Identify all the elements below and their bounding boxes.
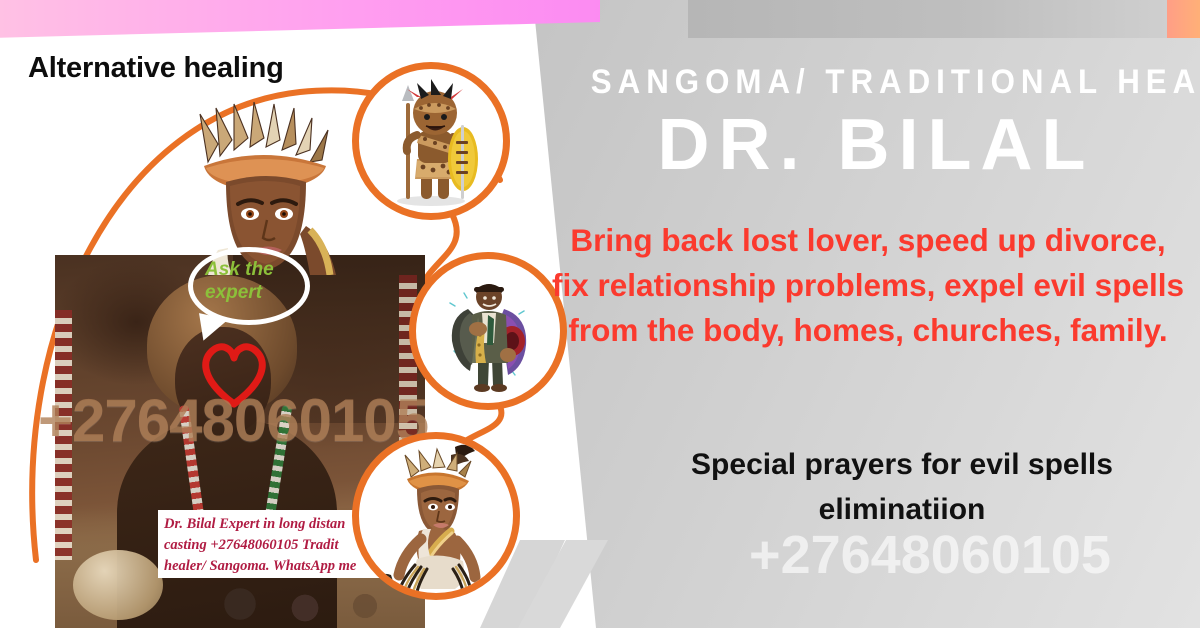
top-gray-bar — [688, 0, 1168, 38]
circle-kneeling-healer — [352, 432, 520, 600]
services-description: Bring back lost lover, speed up divorce,… — [548, 218, 1188, 353]
circle-robed-healer — [409, 252, 567, 410]
phone-number-watermark: +27648060105 — [660, 524, 1200, 586]
kicker-headline: SANGOMA/ TRADITIONAL HEALER — [591, 63, 1161, 102]
poster-canvas: Alternative healing — [0, 0, 1200, 628]
special-prayers-text: Special prayers for evil spells eliminat… — [612, 442, 1192, 532]
robed-healer-icon — [416, 259, 560, 403]
zulu-warrior-icon — [359, 69, 503, 213]
photo-calabash — [73, 550, 163, 620]
doctor-name-title: DR. BILAL — [566, 104, 1186, 186]
kneeling-healer-icon — [359, 439, 513, 593]
circle-zulu-warrior — [352, 62, 510, 220]
photo-phone-watermark: +27648060105 — [38, 386, 428, 455]
speech-bubble-text: Ask the expert — [205, 258, 315, 304]
top-salmon-bar — [1167, 0, 1200, 38]
